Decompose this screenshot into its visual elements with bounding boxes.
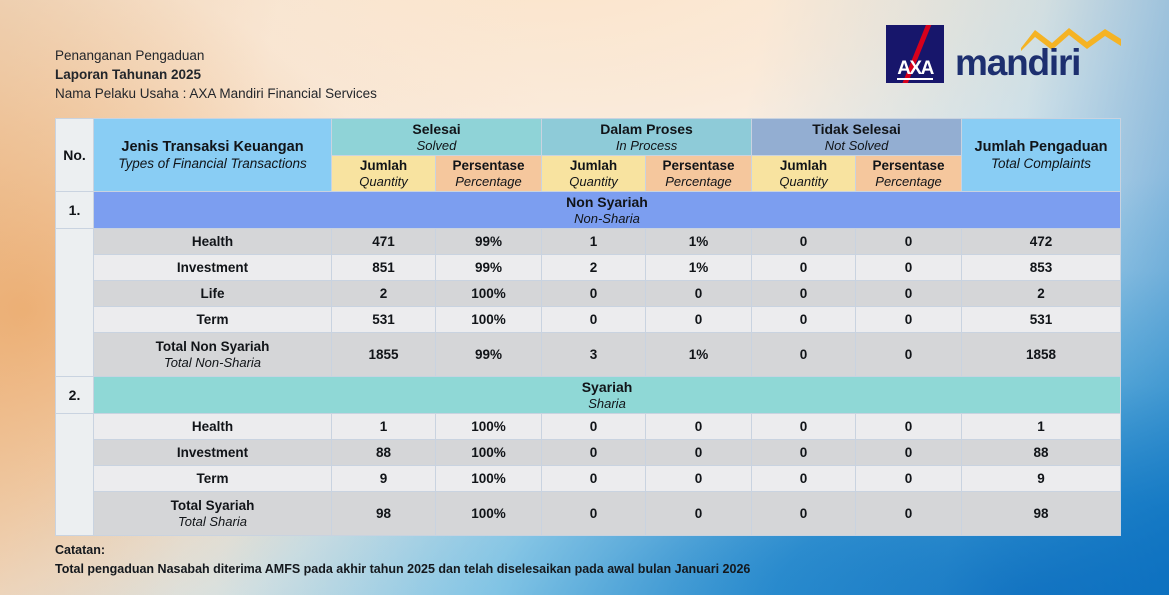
- footnote: Catatan: Total pengaduan Nasabah diterim…: [55, 541, 750, 580]
- cell-process-pct: 0: [646, 281, 752, 307]
- section-total-row: Total Non SyariahTotal Non-Sharia185599%…: [56, 333, 1121, 377]
- row-label: Health: [94, 229, 332, 255]
- subcol-solved-percentage-id: Persentase: [452, 158, 524, 173]
- cell-total: 9: [962, 466, 1121, 492]
- cell-solved-pct: 99%: [436, 255, 542, 281]
- cell-process-pct: 1%: [646, 229, 752, 255]
- cell-solved-qty: 531: [332, 307, 436, 333]
- section-number-spacer: [56, 229, 94, 377]
- mandiri-logo-text: mandiri: [955, 44, 1080, 81]
- cell-process-pct: 0: [646, 414, 752, 440]
- cell-process-pct: 0: [646, 440, 752, 466]
- col-group-not-solved-en: Not Solved: [755, 138, 958, 153]
- cell-solved-pct: 100%: [436, 440, 542, 466]
- section-total-label-en: Total Sharia: [97, 514, 328, 529]
- cell-process-qty: 0: [542, 440, 646, 466]
- table-row: Investment85199%21%00853: [56, 255, 1121, 281]
- cell-notsolved-pct: 0: [856, 255, 962, 281]
- header-row-groups: No. Jenis Transaksi Keuangan Types of Fi…: [56, 119, 1121, 156]
- table-head: No. Jenis Transaksi Keuangan Types of Fi…: [56, 119, 1121, 192]
- section-total-label-id: Total Non Syariah: [156, 339, 270, 354]
- subcol-solved-quantity-id: Jumlah: [360, 158, 407, 173]
- total-cell-solved-qty: 98: [332, 492, 436, 536]
- cell-total: 853: [962, 255, 1121, 281]
- cell-solved-pct: 100%: [436, 281, 542, 307]
- cell-process-pct: 0: [646, 466, 752, 492]
- subcol-solved-percentage: Persentase Percentage: [436, 156, 542, 192]
- cell-process-qty: 2: [542, 255, 646, 281]
- section-number: 2.: [56, 377, 94, 414]
- cell-solved-pct: 99%: [436, 229, 542, 255]
- subcol-process-quantity-en: Quantity: [545, 174, 642, 189]
- cell-solved-qty: 9: [332, 466, 436, 492]
- table-row: Health47199%11%00472: [56, 229, 1121, 255]
- cell-process-qty: 0: [542, 466, 646, 492]
- cell-notsolved-qty: 0: [752, 440, 856, 466]
- total-cell-process-qty: 3: [542, 333, 646, 377]
- cell-solved-qty: 851: [332, 255, 436, 281]
- col-group-not-solved: Tidak Selesai Not Solved: [752, 119, 962, 156]
- cell-notsolved-pct: 0: [856, 281, 962, 307]
- total-cell-notsolved-pct: 0: [856, 492, 962, 536]
- total-cell-solved-pct: 99%: [436, 333, 542, 377]
- cell-total: 2: [962, 281, 1121, 307]
- cell-notsolved-pct: 0: [856, 466, 962, 492]
- table-row: Health1100%00001: [56, 414, 1121, 440]
- section-total-label: Total SyariahTotal Sharia: [94, 492, 332, 536]
- col-header-no: No.: [56, 119, 94, 192]
- cell-notsolved-qty: 0: [752, 466, 856, 492]
- cell-total: 88: [962, 440, 1121, 466]
- subcol-solved-quantity: Jumlah Quantity: [332, 156, 436, 192]
- cell-notsolved-pct: 0: [856, 307, 962, 333]
- total-cell-total: 1858: [962, 333, 1121, 377]
- report-header: Penanganan Pengaduan Laporan Tahunan 202…: [55, 46, 377, 103]
- total-cell-notsolved-qty: 0: [752, 333, 856, 377]
- subcol-notsolved-quantity-id: Jumlah: [780, 158, 827, 173]
- section-band-label-en: Sharia: [97, 396, 1117, 411]
- cell-total: 531: [962, 307, 1121, 333]
- cell-process-qty: 0: [542, 307, 646, 333]
- cell-solved-pct: 100%: [436, 307, 542, 333]
- cell-notsolved-qty: 0: [752, 414, 856, 440]
- subcol-process-quantity-id: Jumlah: [570, 158, 617, 173]
- cell-process-pct: 1%: [646, 255, 752, 281]
- total-cell-solved-qty: 1855: [332, 333, 436, 377]
- cell-notsolved-qty: 0: [752, 255, 856, 281]
- cell-notsolved-pct: 0: [856, 229, 962, 255]
- col-group-in-process: Dalam Proses In Process: [542, 119, 752, 156]
- subcol-notsolved-quantity-en: Quantity: [755, 174, 852, 189]
- cell-solved-qty: 2: [332, 281, 436, 307]
- col-group-not-solved-id: Tidak Selesai: [812, 121, 900, 137]
- row-label: Term: [94, 466, 332, 492]
- section-band-row: 1.Non SyariahNon-Sharia: [56, 192, 1121, 229]
- table-row: Term9100%00009: [56, 466, 1121, 492]
- axa-logo-text: AXA: [886, 59, 944, 78]
- col-group-solved-id: Selesai: [412, 121, 460, 137]
- section-band-row: 2.SyariahSharia: [56, 377, 1121, 414]
- subcol-notsolved-percentage: Persentase Percentage: [856, 156, 962, 192]
- cell-notsolved-qty: 0: [752, 229, 856, 255]
- header-line-company: Nama Pelaku Usaha : AXA Mandiri Financia…: [55, 84, 377, 103]
- cell-solved-qty: 1: [332, 414, 436, 440]
- cell-notsolved-pct: 0: [856, 440, 962, 466]
- section-band-label-id: Non Syariah: [566, 194, 648, 210]
- cell-solved-pct: 100%: [436, 466, 542, 492]
- col-header-total-complaints: Jumlah Pengaduan Total Complaints: [962, 119, 1121, 192]
- axa-underline: [897, 78, 933, 81]
- complaints-table-container: No. Jenis Transaksi Keuangan Types of Fi…: [55, 118, 1118, 536]
- total-cell-process-pct: 0: [646, 492, 752, 536]
- subcol-notsolved-percentage-id: Persentase: [873, 158, 945, 173]
- section-total-row: Total SyariahTotal Sharia98100%000098: [56, 492, 1121, 536]
- footnote-body: Total pengaduan Nasabah diterima AMFS pa…: [55, 560, 750, 579]
- table-body: 1.Non SyariahNon-ShariaHealth47199%11%00…: [56, 192, 1121, 536]
- axa-mandiri-logo: AXA mandiri: [886, 25, 1123, 83]
- cell-notsolved-qty: 0: [752, 281, 856, 307]
- total-cell-notsolved-pct: 0: [856, 333, 962, 377]
- row-label: Term: [94, 307, 332, 333]
- section-total-label-en: Total Non-Sharia: [97, 355, 328, 370]
- subcol-solved-percentage-en: Percentage: [439, 174, 538, 189]
- section-number-spacer: [56, 414, 94, 536]
- row-label: Investment: [94, 255, 332, 281]
- subcol-process-quantity: Jumlah Quantity: [542, 156, 646, 192]
- section-number: 1.: [56, 192, 94, 229]
- cell-process-qty: 0: [542, 281, 646, 307]
- subcol-process-percentage-id: Persentase: [662, 158, 734, 173]
- cell-notsolved-qty: 0: [752, 307, 856, 333]
- cell-solved-pct: 100%: [436, 414, 542, 440]
- col-group-in-process-id: Dalam Proses: [600, 121, 693, 137]
- total-cell-process-pct: 1%: [646, 333, 752, 377]
- section-band-label-en: Non-Sharia: [97, 211, 1117, 226]
- complaints-table: No. Jenis Transaksi Keuangan Types of Fi…: [55, 118, 1121, 536]
- total-cell-solved-pct: 100%: [436, 492, 542, 536]
- col-header-transaction-type: Jenis Transaksi Keuangan Types of Financ…: [94, 119, 332, 192]
- col-group-solved: Selesai Solved: [332, 119, 542, 156]
- section-band-label: Non SyariahNon-Sharia: [94, 192, 1121, 229]
- subcol-solved-quantity-en: Quantity: [335, 174, 432, 189]
- header-line-title: Laporan Tahunan 2025: [55, 65, 377, 84]
- mandiri-logo: mandiri: [955, 25, 1123, 83]
- table-row: Life2100%00002: [56, 281, 1121, 307]
- subcol-process-percentage: Persentase Percentage: [646, 156, 752, 192]
- section-band-label-id: Syariah: [582, 379, 633, 395]
- cell-process-qty: 0: [542, 414, 646, 440]
- cell-process-qty: 1: [542, 229, 646, 255]
- section-total-label-id: Total Syariah: [171, 498, 255, 513]
- row-label: Investment: [94, 440, 332, 466]
- header-line-subject: Penanganan Pengaduan: [55, 46, 377, 65]
- cell-total: 1: [962, 414, 1121, 440]
- cell-total: 472: [962, 229, 1121, 255]
- cell-process-pct: 0: [646, 307, 752, 333]
- col-header-transaction-type-en: Types of Financial Transactions: [97, 156, 328, 171]
- total-cell-total: 98: [962, 492, 1121, 536]
- table-row: Term531100%0000531: [56, 307, 1121, 333]
- axa-logo-icon: AXA: [886, 25, 944, 83]
- section-total-label: Total Non SyariahTotal Non-Sharia: [94, 333, 332, 377]
- col-header-total-complaints-en: Total Complaints: [965, 156, 1117, 171]
- subcol-notsolved-quantity: Jumlah Quantity: [752, 156, 856, 192]
- col-group-solved-en: Solved: [335, 138, 538, 153]
- subcol-notsolved-percentage-en: Percentage: [859, 174, 958, 189]
- col-header-total-complaints-id: Jumlah Pengaduan: [975, 139, 1108, 155]
- total-cell-process-qty: 0: [542, 492, 646, 536]
- footnote-title: Catatan:: [55, 541, 750, 560]
- row-label: Health: [94, 414, 332, 440]
- subcol-process-percentage-en: Percentage: [649, 174, 748, 189]
- col-header-transaction-type-id: Jenis Transaksi Keuangan: [121, 139, 303, 155]
- table-row: Investment88100%000088: [56, 440, 1121, 466]
- section-band-label: SyariahSharia: [94, 377, 1121, 414]
- row-label: Life: [94, 281, 332, 307]
- cell-solved-qty: 88: [332, 440, 436, 466]
- cell-solved-qty: 471: [332, 229, 436, 255]
- cell-notsolved-pct: 0: [856, 414, 962, 440]
- col-group-in-process-en: In Process: [545, 138, 748, 153]
- total-cell-notsolved-qty: 0: [752, 492, 856, 536]
